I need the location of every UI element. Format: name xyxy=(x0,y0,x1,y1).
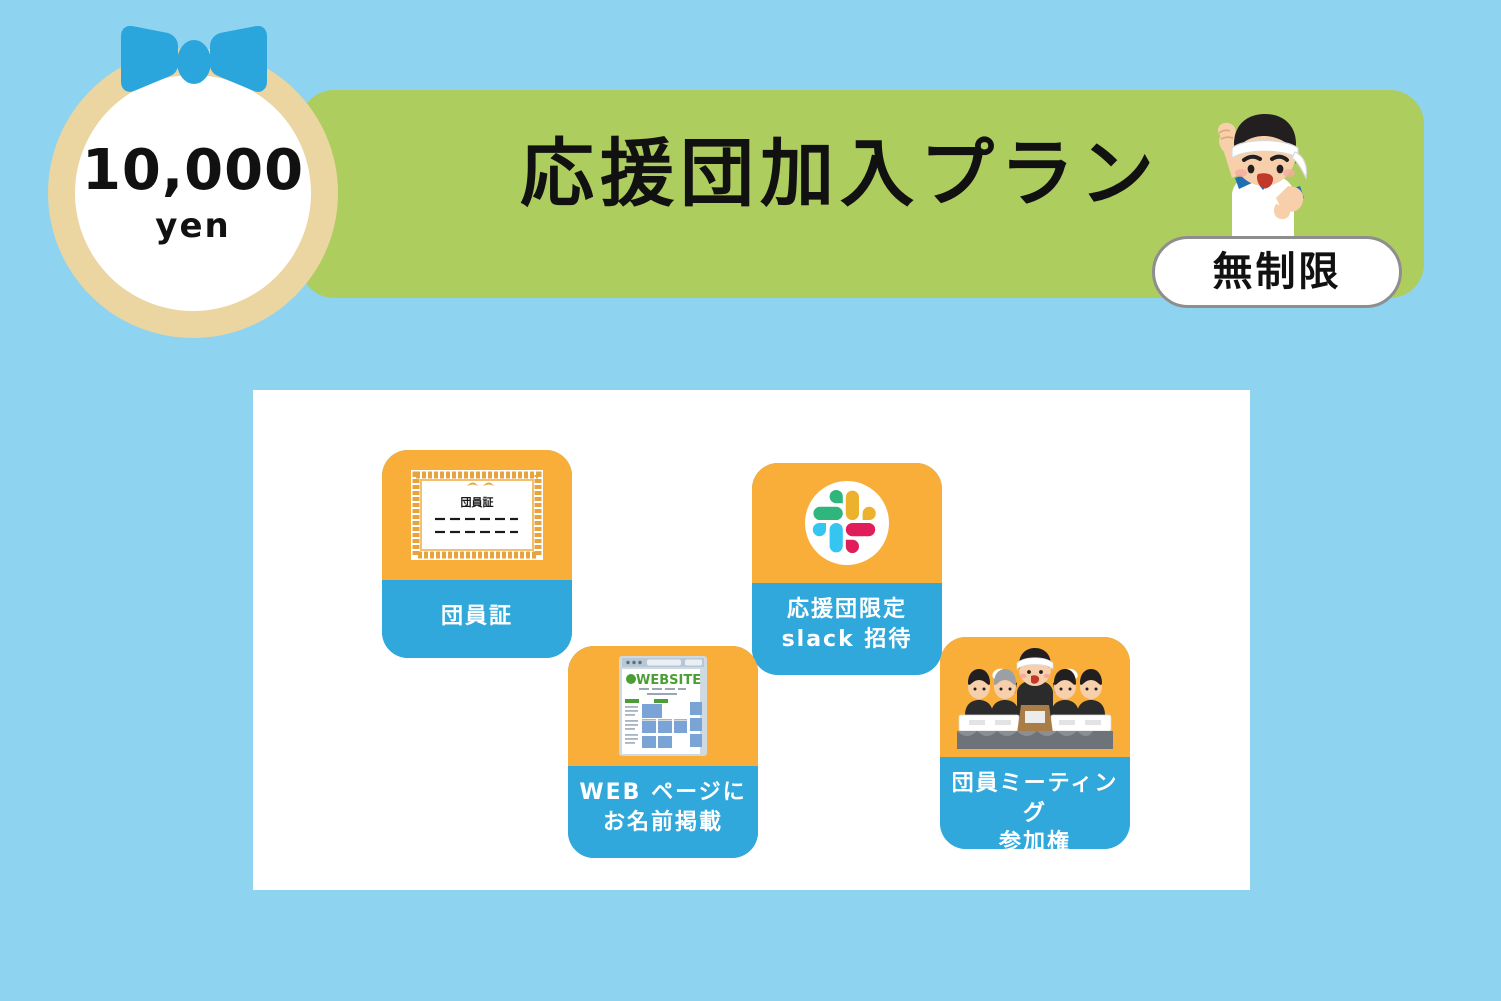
availability-label: 無制限 xyxy=(1213,252,1342,292)
ribbon-bow-icon xyxy=(118,26,270,104)
benefit-card-label: 団員ミーティング 参加権 xyxy=(940,757,1130,849)
svg-text:WEBSITE: WEBSITE xyxy=(636,673,701,688)
benefit-card-membership[interactable]: 団員証 団員証 xyxy=(382,450,572,658)
benefit-card-label: WEB ページに お名前掲載 xyxy=(568,766,758,858)
price-inner-circle: 10,000 yen xyxy=(75,75,311,311)
page-title: 応援団加入プラン xyxy=(500,136,1180,214)
price-badge: 10,000 yen xyxy=(48,48,338,338)
website-page-icon: WEBSITE xyxy=(568,646,758,766)
benefit-card-label: 応援団限定 slack 招待 xyxy=(752,583,942,675)
cheer-mascot-icon xyxy=(1188,108,1338,256)
benefit-card-website[interactable]: WEBSITE xyxy=(568,646,758,858)
svg-text:団員証: 団員証 xyxy=(461,495,494,509)
member-meeting-icon xyxy=(940,637,1130,757)
benefit-label-line: 団員ミーティング xyxy=(944,769,1126,828)
benefit-label-line: お名前掲載 xyxy=(572,808,754,838)
benefit-label-line: 団員証 xyxy=(441,602,513,632)
benefit-card-meeting[interactable]: 団員ミーティング 参加権 xyxy=(940,637,1130,849)
benefit-label-line: 参加権 xyxy=(944,828,1126,849)
benefit-label-line: slack 招待 xyxy=(756,625,938,655)
membership-certificate-icon: 団員証 xyxy=(382,450,572,580)
benefit-card-label: 団員証 xyxy=(382,580,572,658)
price-amount: 10,000 xyxy=(82,143,304,199)
availability-badge: 無制限 xyxy=(1152,236,1402,308)
slack-logo-icon xyxy=(752,463,942,583)
benefit-card-slack[interactable]: 応援団限定 slack 招待 xyxy=(752,463,942,675)
benefit-label-line: WEB ページに xyxy=(572,778,754,808)
price-unit: yen xyxy=(155,209,230,243)
benefit-label-line: 応援団限定 xyxy=(756,595,938,625)
poster-canvas: 応援団加入プラン xyxy=(0,0,1501,1001)
